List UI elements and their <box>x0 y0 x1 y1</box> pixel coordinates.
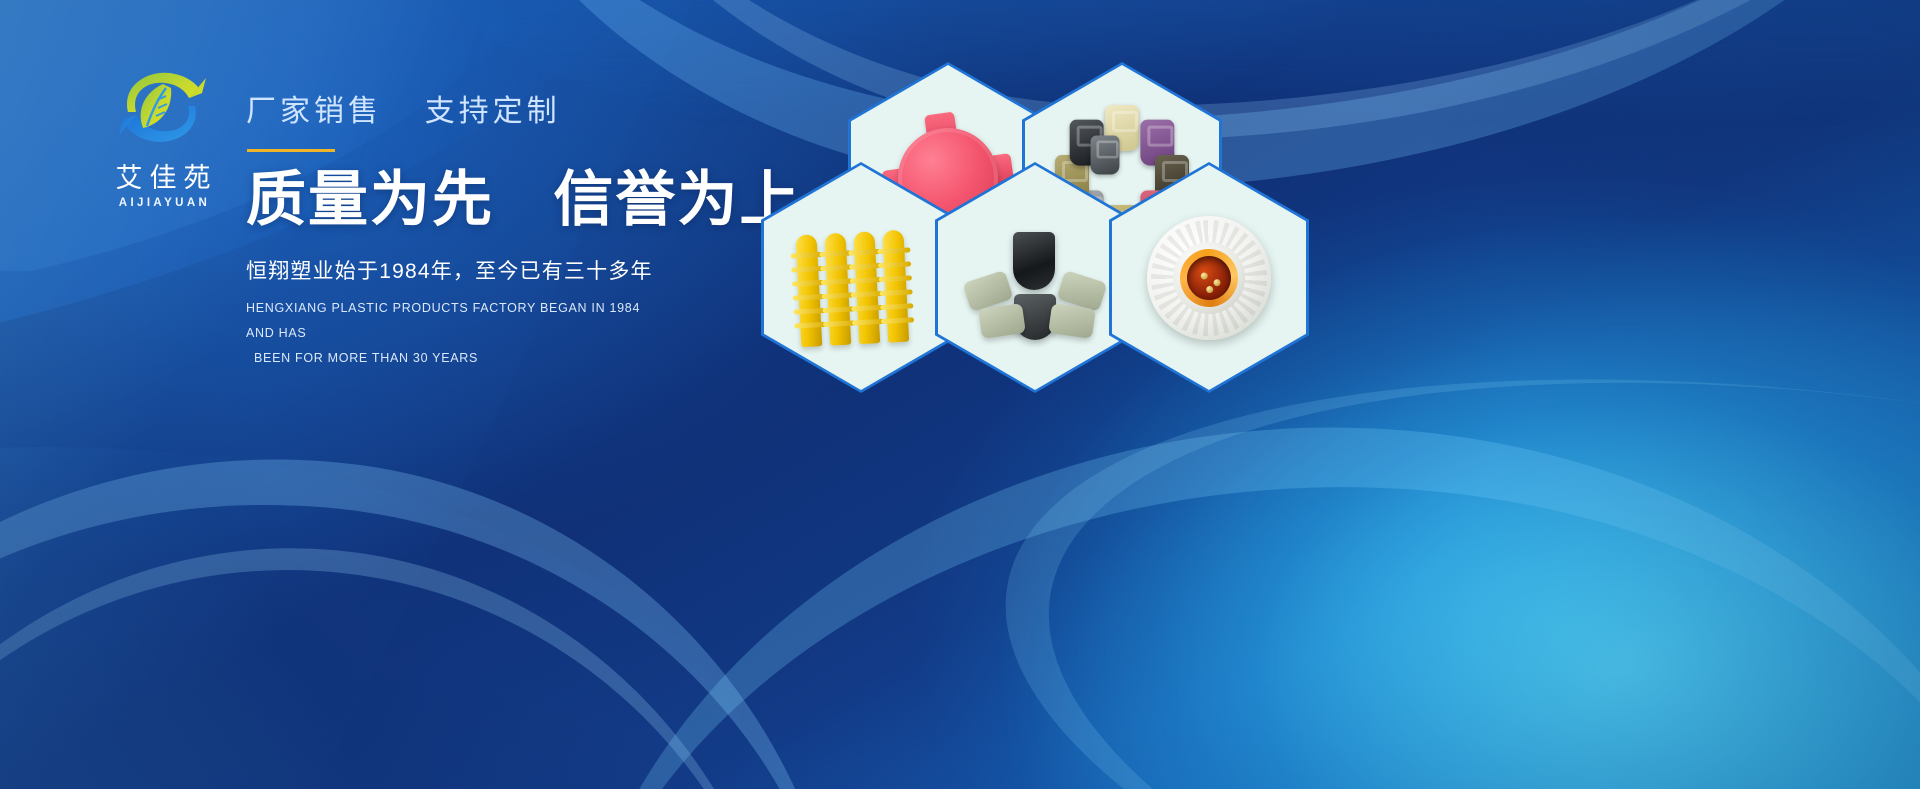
subtitle-english-line-1: HENGXIANG PLASTIC PRODUCTS FACTORY BEGAN… <box>246 296 666 346</box>
logo-name-cn: 艾佳苑 <box>88 156 238 195</box>
kicker-text-2: 支持定制 <box>425 95 561 128</box>
sage-black-clips-image <box>960 232 1110 342</box>
lamp-holder-image <box>1141 209 1277 345</box>
kicker-line: 厂家销售 支持定制 <box>246 86 886 130</box>
logo-name-en: AIJIAYUAN <box>88 197 238 209</box>
headline-text-1: 质量为先 <box>246 166 494 233</box>
subtitle-english-line-2: BEEN FOR MORE THAN 30 YEARS <box>246 346 666 371</box>
subtitle-english: HENGXIANG PLASTIC PRODUCTS FACTORY BEGAN… <box>246 296 666 371</box>
kicker-text-1: 厂家销售 <box>246 95 382 128</box>
gold-divider-rule <box>247 149 335 152</box>
yellow-wall-anchors-image <box>795 217 927 347</box>
promo-banner: 艾佳苑 AIJIAYUAN 厂家销售 支持定制 质量为先 信誉为上 恒翔塑业始于… <box>0 0 1920 789</box>
product-hexagon-collage <box>806 44 1326 384</box>
leaf-swoosh-logo-icon <box>103 60 223 152</box>
brand-logo[interactable]: 艾佳苑 AIJIAYUAN <box>88 60 238 209</box>
